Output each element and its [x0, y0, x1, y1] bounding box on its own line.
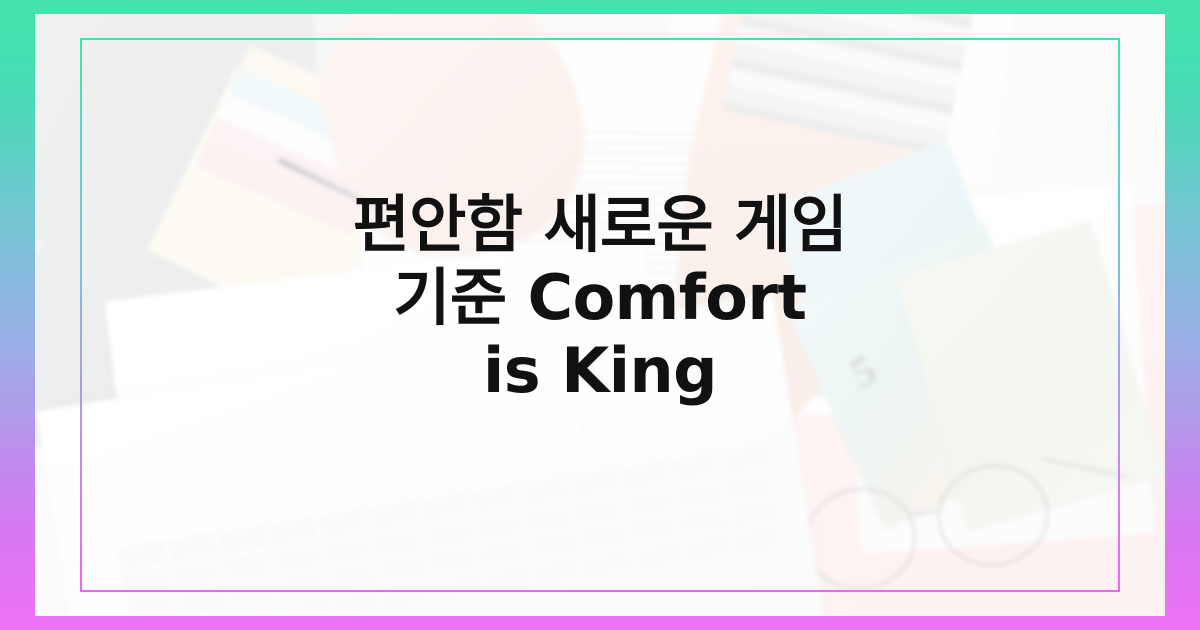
social-share-banner: U.S. Individual Income Tax Return 5: [0, 0, 1200, 630]
page-title: 편안함 새로운 게임 기준 Comfort is King: [0, 188, 1200, 407]
headline-line-1: 편안함 새로운 게임: [110, 188, 1090, 261]
headline-line-2: 기준 Comfort: [110, 261, 1090, 334]
headline-line-3: is King: [110, 334, 1090, 407]
